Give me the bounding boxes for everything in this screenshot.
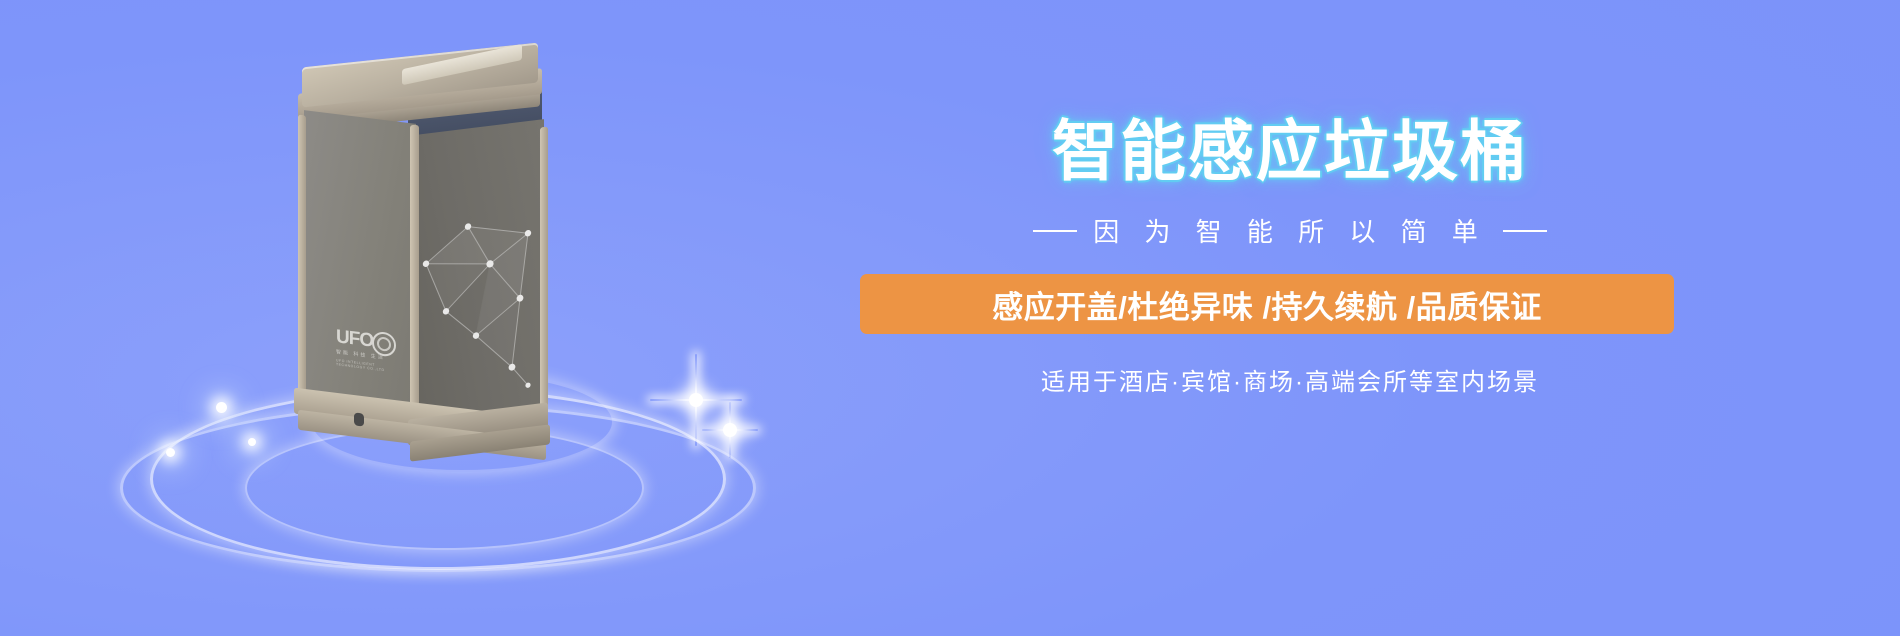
bin-network-graphic: [416, 187, 546, 413]
product-scene: UFO 智能 科技 生活 UFO INTELLIGENT TECHNOLOGY …: [60, 0, 820, 636]
banner-title: 智能感应垃圾桶: [880, 118, 1700, 184]
subtitle-dash-right: [1503, 230, 1547, 232]
bin-frame-edge-right: [540, 127, 548, 428]
bin-frame-edge-left: [298, 115, 306, 426]
subtitle-dash-left: [1033, 230, 1077, 232]
bin-sensor-port-icon: [354, 412, 364, 426]
bin-lid-opening: [402, 44, 522, 85]
subtitle-text: 因 为 智 能 所 以 简 单: [1093, 212, 1487, 249]
marketing-copy-block: 智能感应垃圾桶 因 为 智 能 所 以 简 单 感应开盖/杜绝异味 /持久续航 …: [880, 0, 1840, 636]
polygon-network-icon: [416, 187, 546, 413]
glow-dot-icon: [166, 448, 175, 457]
smart-trash-bin-product: UFO 智能 科技 生活 UFO INTELLIGENT TECHNOLOGY …: [258, 55, 578, 455]
feature-highlight-badge: 感应开盖/杜绝异味 /持久续航 /品质保证: [860, 274, 1674, 334]
glow-dot-icon: [248, 438, 256, 446]
usage-scenario-text: 适用于酒店·宾馆·商场·高端会所等室内场景: [880, 362, 1700, 397]
product-promo-banner: UFO 智能 科技 生活 UFO INTELLIGENT TECHNOLOGY …: [0, 0, 1900, 636]
feature-highlight-text: 感应开盖/杜绝异味 /持久续航 /品质保证: [992, 282, 1542, 327]
bin-frame-edge-center: [410, 125, 419, 437]
bin-front-panel: [304, 110, 416, 424]
brand-logo: UFO 智能 科技 生活 UFO INTELLIGENT TECHNOLOGY …: [336, 327, 398, 381]
glow-dot-icon: [216, 402, 227, 413]
banner-subtitle: 因 为 智 能 所 以 简 单: [880, 212, 1700, 249]
sparkle-star-icon: [702, 402, 758, 458]
